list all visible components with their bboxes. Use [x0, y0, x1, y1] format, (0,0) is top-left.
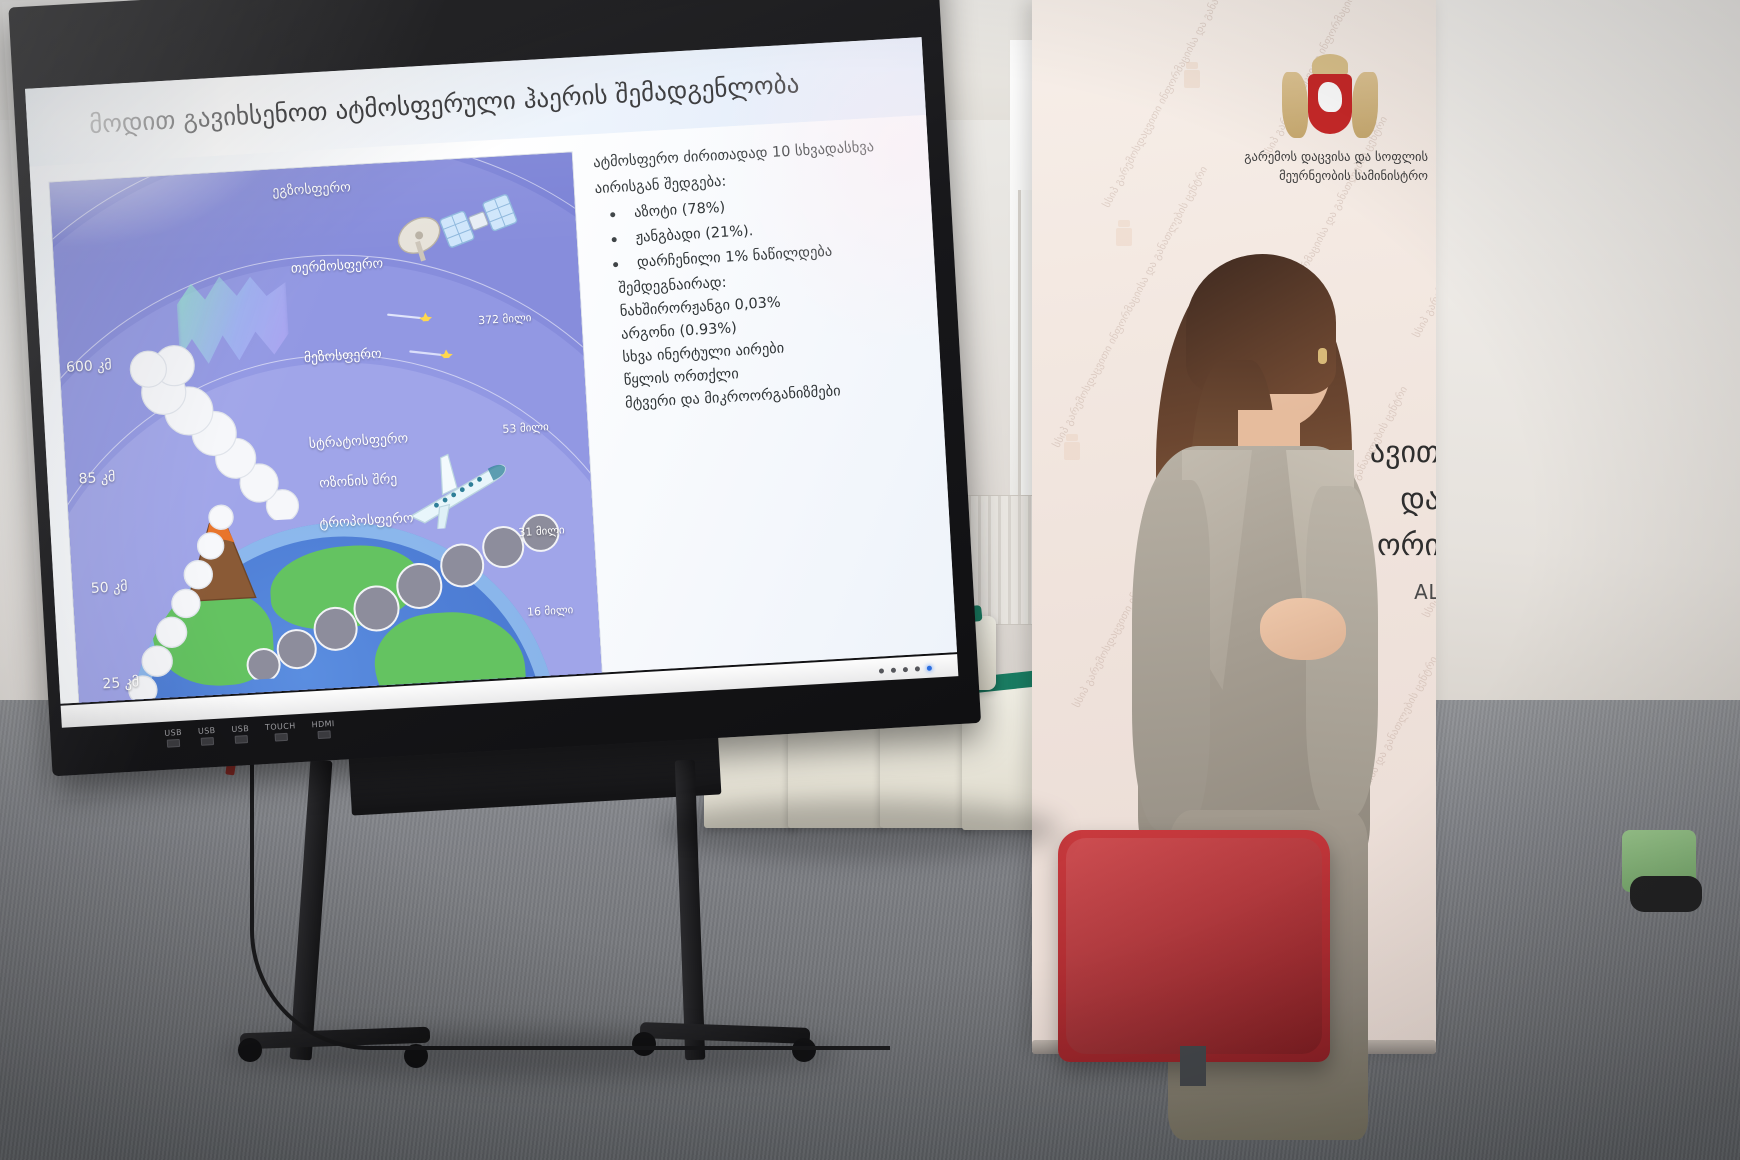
hdmi-icon[interactable]	[317, 730, 330, 739]
altitude-label-85km: 85 კმ	[78, 469, 116, 487]
altitude-label-50km: 50 კმ	[90, 579, 128, 597]
altitude-label-16mi: 16 მილი	[527, 603, 574, 619]
display-screen[interactable]: მოდით გავიხსენოთ ატმოსფერული ჰაერის შემა…	[25, 37, 957, 704]
port-label: TOUCH	[265, 721, 296, 732]
usb-icon[interactable]	[234, 735, 247, 744]
port-usb-3[interactable]: USB	[231, 723, 250, 743]
led-indicator	[903, 666, 908, 671]
led-power-indicator	[927, 665, 932, 670]
ministry-line-2: მეურნეობის სამინისტრო	[1214, 167, 1428, 186]
port-label: USB	[231, 723, 249, 733]
earring	[1318, 348, 1327, 364]
smoke-plume-dark	[235, 461, 576, 680]
altitude-label-53mi: 53 მილი	[502, 420, 549, 436]
watermark-crest-icon	[1054, 430, 1090, 466]
red-chair	[1058, 830, 1330, 1062]
crest-supporter-left	[1282, 72, 1308, 138]
usb-icon[interactable]	[167, 738, 180, 747]
screenshot-stage: მოდით გავიხსენოთ ატმოსფერული ჰაერის შემა…	[0, 0, 1740, 1160]
slide-sub-block: შემდეგნაირად: ნახშირორჟანგი 0,03% არგონი…	[618, 260, 932, 415]
satellite-dish-icon	[388, 212, 453, 267]
led-indicator	[915, 666, 920, 671]
port-usb-1[interactable]: USB	[164, 727, 183, 747]
port-usb-2[interactable]: USB	[198, 725, 217, 745]
floor-shadow	[220, 1030, 840, 1078]
clasped-hands	[1260, 598, 1346, 660]
crest-crown-icon	[1312, 54, 1348, 76]
port-label: USB	[164, 727, 182, 737]
crest-supporter-right	[1352, 72, 1378, 138]
watermark-crest-icon	[1174, 58, 1210, 94]
ministry-line-1: გარემოს დაცვისა და სოფლის	[1214, 148, 1428, 167]
floor-shadow	[660, 800, 1060, 860]
chair-shading	[1066, 838, 1322, 1054]
port-hdmi[interactable]: HDMI	[311, 719, 335, 739]
port-label: USB	[198, 725, 216, 735]
altitude-label-31mi: 31 მილი	[518, 523, 565, 539]
touch-port-icon[interactable]	[274, 732, 287, 741]
altitude-label-25km: 25 კმ	[102, 674, 140, 692]
dark-floor-object	[1630, 876, 1702, 912]
crest-saint-george-icon	[1318, 82, 1342, 112]
wall-right	[1420, 0, 1740, 780]
port-touch[interactable]: TOUCH	[265, 721, 297, 742]
interactive-display[interactable]: მოდით გავიხსენოთ ატმოსფერული ჰაერის შემა…	[2, 0, 986, 801]
usb-icon[interactable]	[201, 737, 214, 746]
port-label: HDMI	[311, 719, 335, 729]
slide-body: ეგზოსფერო თერმოსფერო მეზოსფერო სტრატოსფე…	[30, 115, 957, 704]
slide-text-panel: ატმოსფერო ძირითადად 10 სხვადასხვა აირისგ…	[572, 115, 957, 673]
banner-ministry-name: გარემოს დაცვისა და სოფლის მეურნეობის სამ…	[1214, 148, 1428, 186]
led-indicator	[891, 667, 896, 672]
arm-left	[1132, 480, 1210, 830]
watermark-crest-icon	[1106, 216, 1142, 252]
altitude-label-600km: 600 კმ	[66, 357, 112, 376]
atmosphere-infographic: ეგზოსფერო თერმოსფერო მეზოსფერო სტრატოსფე…	[48, 151, 603, 703]
chair-post	[1180, 1046, 1206, 1086]
led-indicator	[879, 668, 884, 673]
